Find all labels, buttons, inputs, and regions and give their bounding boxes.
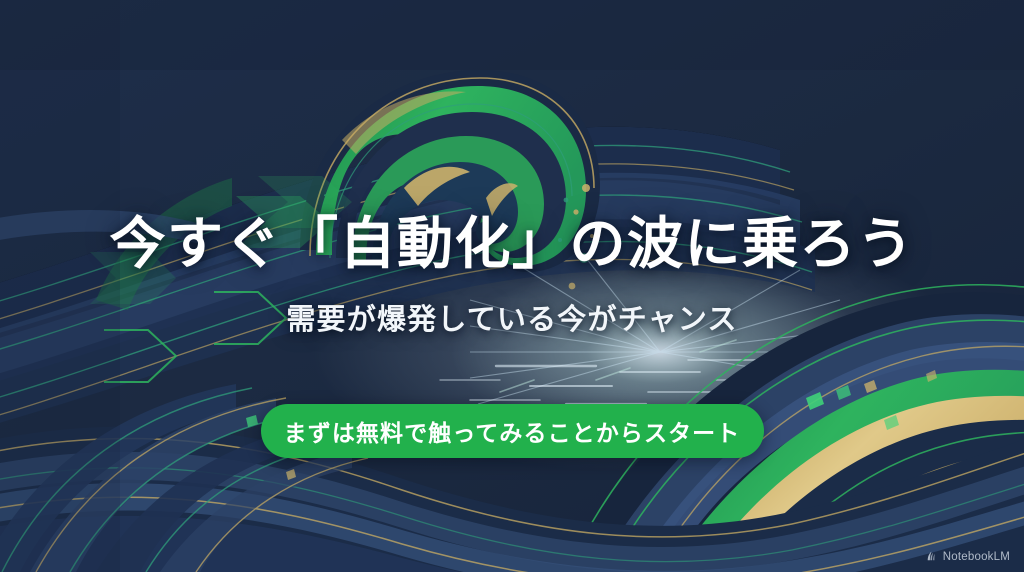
page-title: 今すぐ「自動化」の波に乗ろう <box>0 213 1024 275</box>
page-subtitle: 需要が爆発している今がチャンス <box>0 302 1024 338</box>
notebooklm-watermark: NotebookLM <box>925 550 1010 563</box>
hero-banner: 今すぐ「自動化」の波に乗ろう 需要が爆発している今がチャンス まずは無料で触って… <box>0 0 1024 572</box>
start-free-cta-button[interactable]: まずは無料で触ってみることからスタート <box>261 404 764 458</box>
notebooklm-logo-icon <box>925 550 938 563</box>
cta-container: まずは無料で触ってみることからスタート <box>0 404 1024 458</box>
notebooklm-watermark-label: NotebookLM <box>943 551 1010 563</box>
